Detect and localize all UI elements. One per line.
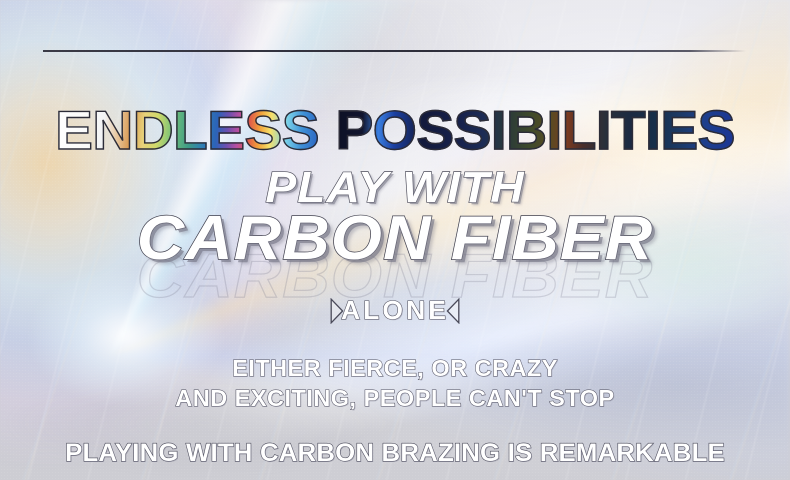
body-line-two: AND EXCITING, PEOPLE CAN'T STOP — [0, 383, 790, 413]
poster-canvas: ENDLESSPOSSIBILITIES PLAY WITH CARBON FI… — [0, 0, 790, 480]
triangle-right-icon — [317, 298, 330, 324]
headline: ENDLESSPOSSIBILITIES — [0, 103, 790, 158]
headline-word-endless: ENDLESS — [55, 99, 319, 161]
top-divider-rule — [43, 50, 746, 52]
alone-row: ALONE — [0, 295, 790, 326]
headline-word-possibilities: POSSIBILITIES — [336, 99, 735, 161]
body-text-block: EITHER FIERCE, OR CRAZY AND EXCITING, PE… — [0, 353, 790, 413]
triangle-left-icon — [460, 298, 473, 324]
alone-label: ALONE — [341, 295, 449, 326]
poster-content: ENDLESSPOSSIBILITIES PLAY WITH CARBON FI… — [0, 0, 790, 480]
body-line-one: EITHER FIERCE, OR CRAZY — [0, 353, 790, 383]
footer-strapline: PLAYING WITH CARBON BRAZING IS REMARKABL… — [0, 441, 790, 466]
subhead-carbon-fiber: CARBON FIBER — [0, 208, 790, 270]
